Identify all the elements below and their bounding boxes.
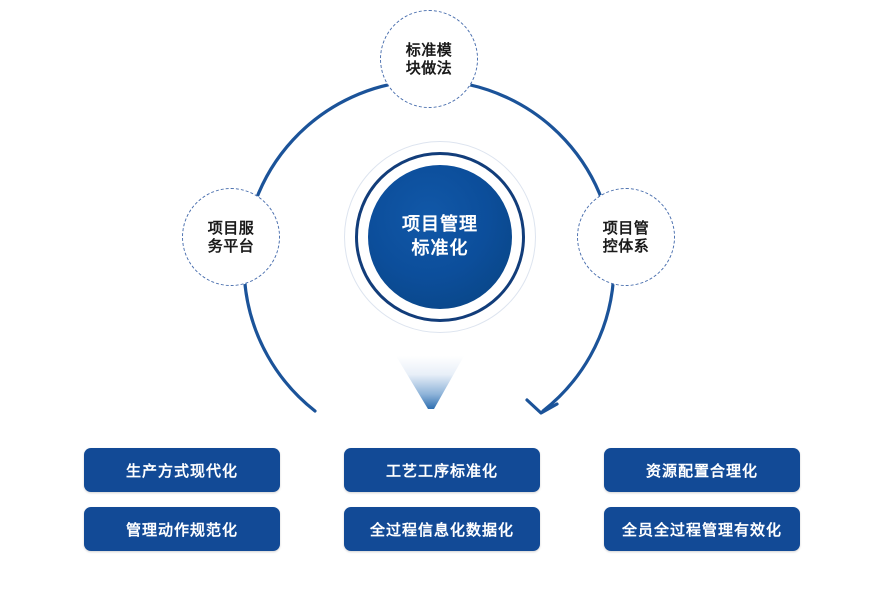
down-arrow-icon [396, 356, 464, 409]
outcome-button[interactable]: 全过程信息化数据化 [344, 507, 540, 551]
satellite-node-left[interactable]: 项目服 务平台 [182, 188, 280, 286]
outcome-button[interactable]: 资源配置合理化 [604, 448, 800, 492]
hub-core-label: 项目管理 标准化 [402, 213, 478, 261]
hub-core-group: 项目管理 标准化 [344, 141, 536, 333]
outcome-button[interactable]: 工艺工序标准化 [344, 448, 540, 492]
satellite-node-top[interactable]: 标准模 块做法 [380, 10, 478, 108]
satellite-node-right[interactable]: 项目管 控体系 [577, 188, 675, 286]
satellite-label-left: 项目服 务平台 [208, 219, 255, 255]
satellite-label-top: 标准模 块做法 [406, 41, 453, 77]
outcome-button-grid: 生产方式现代化 工艺工序标准化 资源配置合理化 管理动作规范化 全过程信息化数据… [0, 448, 884, 566]
hub-core-circle: 项目管理 标准化 [368, 165, 512, 309]
outcome-row: 管理动作规范化 全过程信息化数据化 全员全过程管理有效化 [0, 507, 884, 551]
outcome-row: 生产方式现代化 工艺工序标准化 资源配置合理化 [0, 448, 884, 492]
outcome-button[interactable]: 全员全过程管理有效化 [604, 507, 800, 551]
outcome-button[interactable]: 生产方式现代化 [84, 448, 280, 492]
outcome-button[interactable]: 管理动作规范化 [84, 507, 280, 551]
satellite-label-right: 项目管 控体系 [603, 219, 650, 255]
diagram-canvas: 项目管理 标准化 标准模 块做法 项目服 务平台 项目管 控体系 生产方式现代化… [0, 0, 884, 590]
